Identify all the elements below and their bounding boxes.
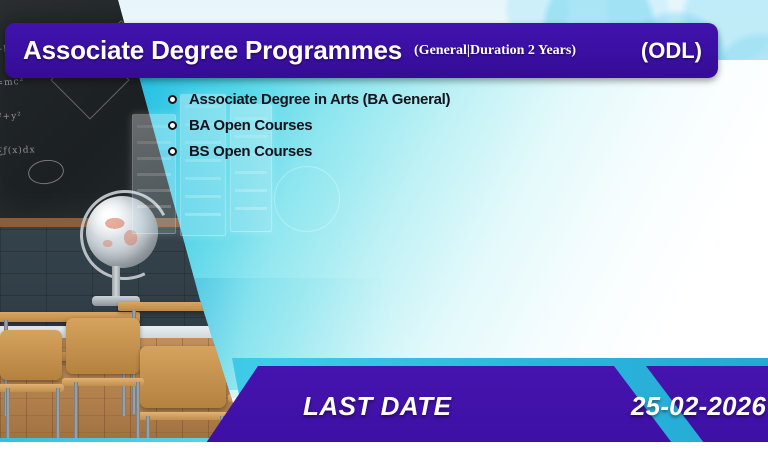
list-item-label: Associate Degree in Arts (BA General) xyxy=(189,91,450,108)
programme-list: Associate Degree in Arts (BA General) BA… xyxy=(168,88,588,166)
globe-continents xyxy=(86,196,158,268)
list-item: Associate Degree in Arts (BA General) xyxy=(168,88,588,110)
admission-poster: a+b=c² E=mc² x²+y² ∑ƒ(x)dx xyxy=(0,0,768,450)
globe-icon xyxy=(86,196,158,268)
title-banner: Associate Degree Programmes (General|Dur… xyxy=(5,23,718,78)
list-item: BA Open Courses xyxy=(168,114,588,136)
last-date-value: 25-02-2026 xyxy=(631,391,766,422)
bullet-icon xyxy=(168,121,177,130)
bullet-icon xyxy=(168,95,177,104)
list-item: BS Open Courses xyxy=(168,140,588,162)
programme-subtitle: (General|Duration 2 Years) xyxy=(414,43,576,59)
chalk-writing: E=mc² xyxy=(0,77,25,90)
list-item-label: BS Open Courses xyxy=(189,143,312,160)
chalk-writing: x²+y² xyxy=(0,111,22,123)
chalk-writing: ∑ƒ(x)dx xyxy=(0,145,36,156)
globe-stand xyxy=(112,266,120,300)
delivery-mode-badge: (ODL) xyxy=(641,38,702,64)
page-title: Associate Degree Programmes xyxy=(23,35,402,66)
bullet-icon xyxy=(168,147,177,156)
footer-bar: LAST DATE 25-02-2026 xyxy=(0,358,768,450)
list-item-label: BA Open Courses xyxy=(189,117,312,134)
footer-baseline xyxy=(0,442,768,450)
chalk-circle xyxy=(27,158,66,187)
last-date-label: LAST DATE xyxy=(303,391,451,422)
